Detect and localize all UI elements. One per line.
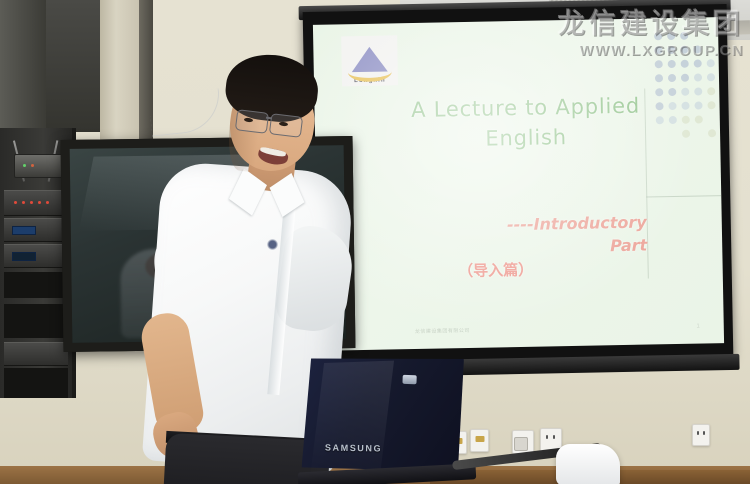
decorative-dot	[681, 60, 689, 68]
status-led-icon	[38, 201, 41, 204]
decorative-dot	[656, 116, 664, 124]
decorative-dot	[694, 101, 702, 109]
photo-scene: Longxin A Lecture to Applied English ---…	[0, 0, 750, 484]
decorative-dot	[694, 73, 702, 81]
rack-empty-bay	[4, 272, 68, 298]
decorative-dot	[707, 101, 715, 109]
decorative-dot	[681, 102, 689, 110]
decorative-dot	[668, 60, 676, 68]
slide-subtitle-line-1: ----Introductory	[507, 213, 647, 235]
decorative-dot	[655, 74, 663, 82]
decorative-dot	[694, 59, 702, 67]
laptop-brand-label: SAMSUNG	[325, 443, 382, 454]
slide-horizontal-rule	[646, 195, 722, 197]
rack-unit-lower[interactable]	[4, 342, 68, 366]
decorative-dot	[707, 73, 715, 81]
status-led-icon	[31, 164, 34, 167]
slide-title: A Lecture to Applied English	[372, 90, 679, 157]
decorative-dot	[654, 46, 662, 54]
rack-display-icon	[12, 252, 36, 261]
status-led-icon	[22, 201, 25, 204]
projection-screen: Longxin A Lecture to Applied English ---…	[303, 4, 734, 364]
socket-hole-icon	[703, 431, 705, 435]
slide-logo: Longxin	[341, 35, 398, 86]
slide-subtitle-chinese: （导入篇）	[377, 258, 647, 285]
longxin-logo-icon	[345, 45, 394, 78]
samsung-laptop[interactable]: SAMSUNG	[298, 353, 468, 484]
status-led-icon	[23, 164, 26, 167]
decorative-dot	[681, 88, 689, 96]
slide-title-line-1: A Lecture to Applied	[411, 94, 640, 122]
decorative-dot	[668, 88, 676, 96]
decorative-dot	[669, 116, 677, 124]
decorative-dot	[668, 102, 676, 110]
decorative-dot	[682, 130, 690, 138]
status-led-icon	[30, 201, 33, 204]
tissue-box	[556, 444, 620, 484]
decorative-dot	[682, 116, 690, 124]
rack-unit-processor[interactable]	[4, 190, 68, 216]
presentation-slide: Longxin A Lecture to Applied English ---…	[313, 17, 724, 351]
decorative-dot	[655, 88, 663, 96]
decorative-dot	[654, 32, 662, 40]
laptop-lid-reflection	[309, 361, 393, 479]
decorative-dot	[708, 129, 716, 137]
decorative-dot	[694, 87, 702, 95]
rack-unit-player[interactable]	[4, 244, 68, 268]
decorative-dot	[707, 87, 715, 95]
decorative-dot	[693, 45, 701, 53]
rack-empty-bay	[4, 368, 68, 398]
decorative-dot	[668, 74, 676, 82]
status-led-icon	[14, 201, 17, 204]
slide-dot-grid-decoration	[654, 31, 724, 160]
socket-hole-icon	[546, 435, 548, 439]
decorative-dot	[681, 74, 689, 82]
jack-port-icon	[475, 436, 484, 442]
slide-subtitle: ----Introductory Part （导入篇）	[377, 211, 648, 285]
decorative-dot	[667, 32, 675, 40]
laptop-badge-sticker	[402, 375, 416, 384]
wall-power-socket-3[interactable]	[692, 424, 710, 446]
decorative-dot	[680, 32, 688, 40]
power-plug[interactable]	[514, 437, 528, 451]
rack-empty-bay	[4, 304, 68, 338]
rack-display-icon	[12, 226, 36, 235]
decorative-dot	[655, 102, 663, 110]
decorative-dot	[667, 46, 675, 54]
socket-hole-icon	[697, 431, 699, 435]
decorative-dot	[680, 46, 688, 54]
socket-hole-icon	[553, 435, 555, 439]
slide-footer-text: 龙信建设集团有限公司	[415, 327, 470, 335]
decorative-dot	[655, 60, 663, 68]
wall-network-jack-2[interactable]	[470, 429, 489, 452]
status-led-icon	[46, 201, 49, 204]
decorative-dot	[695, 115, 703, 123]
slide-subtitle-line-2: Part	[610, 236, 647, 256]
decorative-dot	[707, 59, 715, 67]
slide-title-line-2: English	[373, 120, 680, 156]
slide-page-number: 1	[696, 324, 699, 330]
shirt-pocket-emblem	[265, 237, 279, 251]
rack-unit-amplifier[interactable]	[4, 218, 68, 242]
